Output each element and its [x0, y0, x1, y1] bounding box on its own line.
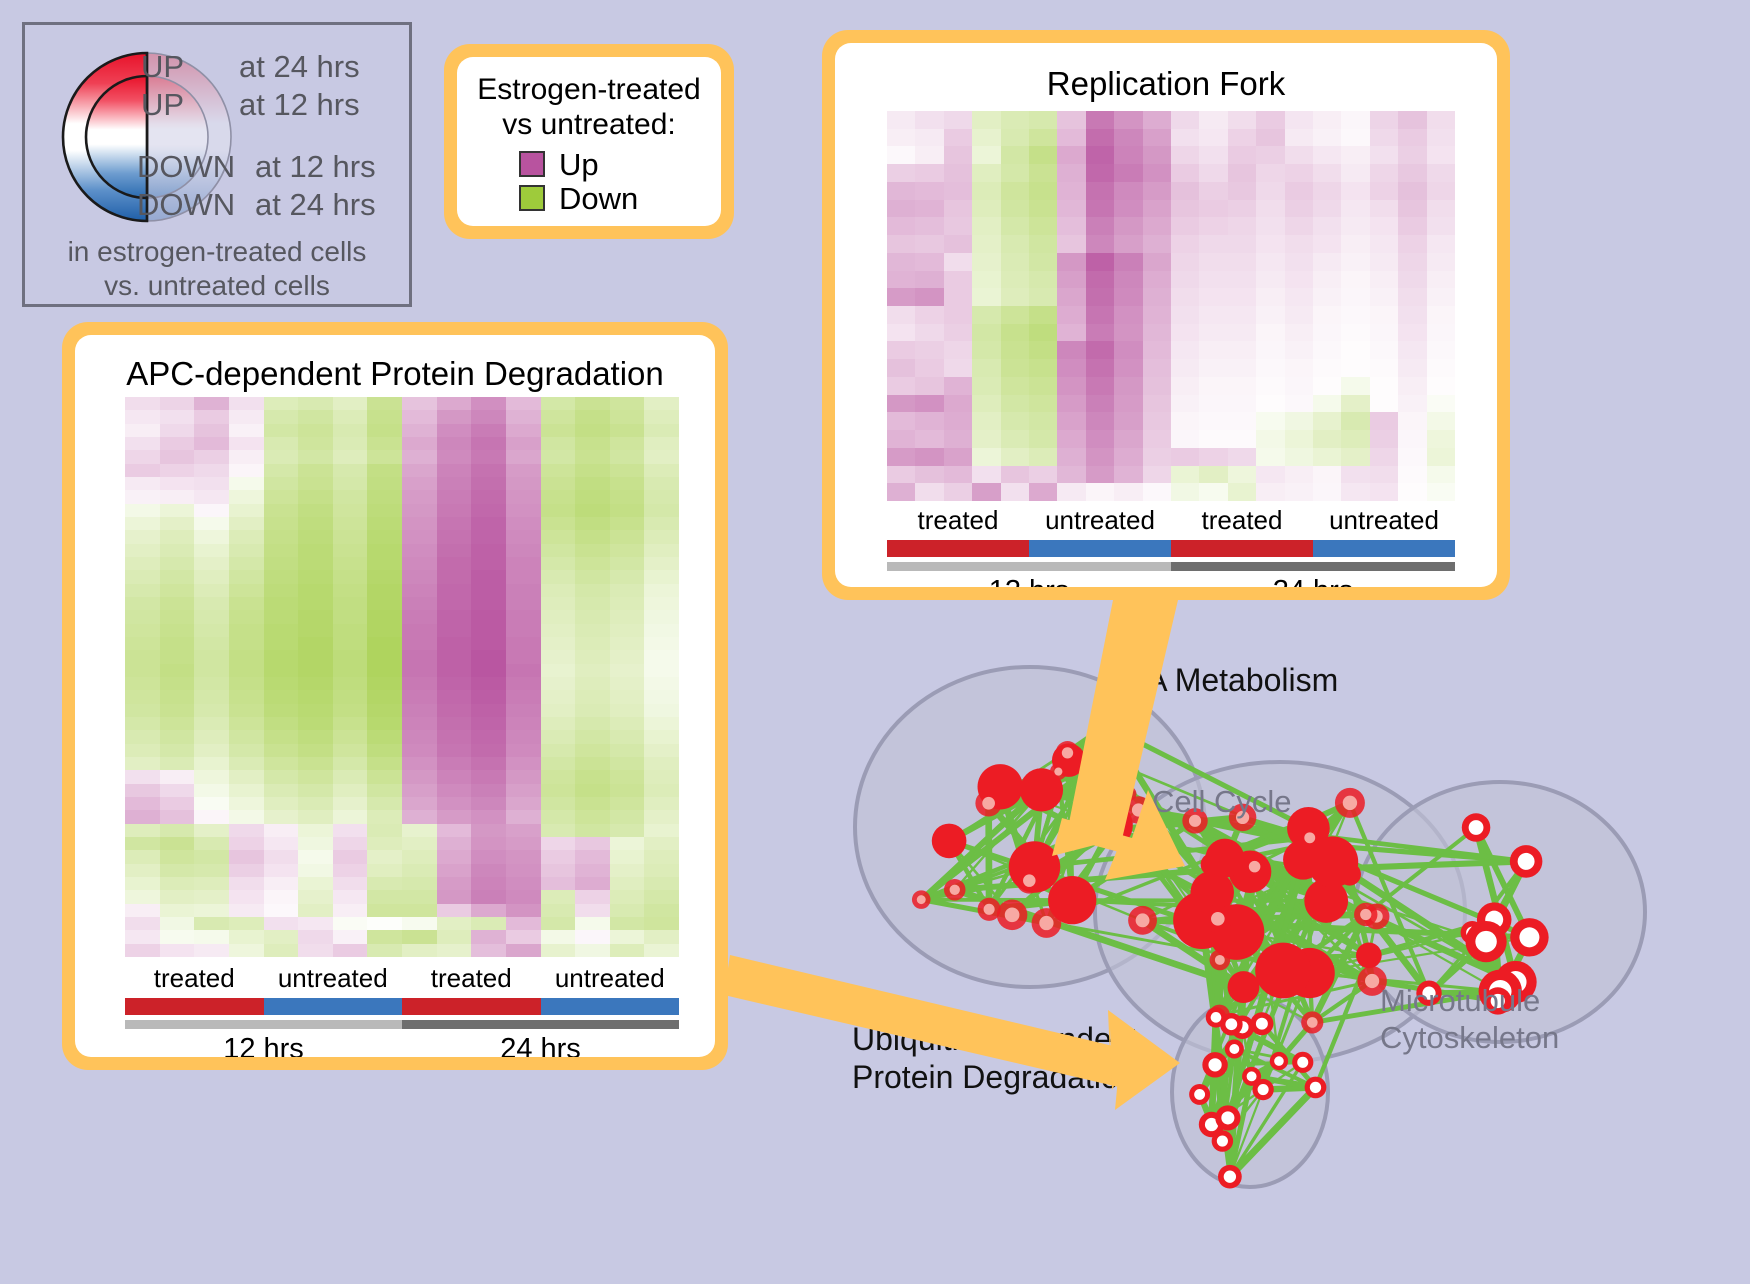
- heatmap-cell: [541, 677, 576, 690]
- network-node[interactable]: [944, 879, 966, 901]
- heatmap-cell: [1256, 412, 1284, 430]
- heatmap-cell: [1086, 306, 1114, 324]
- heatmap-cell: [471, 930, 506, 943]
- heatmap-cell: [1001, 448, 1029, 466]
- heatmap-cell: [160, 570, 195, 583]
- heatmap-cell: [229, 784, 264, 797]
- heatmap-cell: [1143, 200, 1171, 218]
- heatmap-cell: [125, 877, 160, 890]
- legend-title-line2: vs untreated:: [475, 108, 703, 143]
- heatmap-cell: [1029, 111, 1057, 129]
- heatmap-cell: [125, 490, 160, 503]
- heatmap-cell: [229, 717, 264, 730]
- network-node[interactable]: [912, 890, 931, 909]
- heatmap-cell: [437, 570, 472, 583]
- legend-swatch-up-icon: [519, 151, 545, 177]
- heatmap-cell: [541, 544, 576, 557]
- heatmap-cell: [1398, 448, 1426, 466]
- heatmap-cell: [1143, 129, 1171, 147]
- heatmap-cell: [160, 850, 195, 863]
- network-node[interactable]: [1298, 826, 1321, 849]
- heatmap-cell: [1313, 253, 1341, 271]
- heatmap-cell: [402, 490, 437, 503]
- heatmap-cell: [575, 464, 610, 477]
- network-svg: [800, 612, 1750, 1279]
- heatmap-cell: [160, 557, 195, 570]
- heatmap-cell: [367, 797, 402, 810]
- heatmap-cell: [1427, 182, 1455, 200]
- heatmap-cell: [471, 584, 506, 597]
- heatmap-cell: [1285, 483, 1313, 501]
- heatmap-cell: [610, 530, 645, 543]
- heatmap-cell: [1313, 182, 1341, 200]
- heatmap-cell: [437, 944, 472, 957]
- heatmap-cell: [972, 253, 1000, 271]
- heatmap-cell: [1341, 129, 1369, 147]
- heatmap-cell: [1057, 146, 1085, 164]
- heatmap-cell: [972, 129, 1000, 147]
- apc-title: APC-dependent Protein Degradation: [75, 355, 715, 393]
- heatmap-cell: [575, 584, 610, 597]
- heatmap-cell: [437, 730, 472, 743]
- heatmap-cell: [264, 677, 299, 690]
- heatmap-cell: [1370, 324, 1398, 342]
- heatmap-cell: [437, 450, 472, 463]
- heatmap-cell: [333, 464, 368, 477]
- heatmap-cell: [471, 437, 506, 450]
- heatmap-cell: [610, 757, 645, 770]
- heatmap-cell: [264, 877, 299, 890]
- heatmap-cell: [575, 797, 610, 810]
- heatmap-cell: [229, 877, 264, 890]
- heatmap-cell: [541, 450, 576, 463]
- replication-fork-heatmap: [887, 111, 1455, 501]
- heatmap-cell: [1341, 448, 1369, 466]
- heatmap-cell: [944, 129, 972, 147]
- network-node[interactable]: [1270, 1052, 1288, 1070]
- network-node[interactable]: [1356, 943, 1382, 969]
- heatmap-cell: [506, 410, 541, 423]
- heatmap-cell: [160, 464, 195, 477]
- heatmap-cell: [471, 877, 506, 890]
- heatmap-cell: [1086, 271, 1114, 289]
- network-node[interactable]: [1215, 1105, 1240, 1130]
- heatmap-cell: [367, 530, 402, 543]
- heatmap-cell: [644, 917, 679, 930]
- heatmap-cell: [575, 824, 610, 837]
- legend-panel: Estrogen-treated vs untreated: Up Down: [444, 44, 734, 239]
- heatmap-cell: [944, 271, 972, 289]
- heatmap-cell: [1427, 306, 1455, 324]
- heatmap-cell: [1398, 483, 1426, 501]
- cluster-label-microtubule-cytoskeleton: Microtubule Cytoskeleton: [1380, 982, 1559, 1056]
- heatmap-cell: [1057, 483, 1085, 501]
- heatmap-cell: [541, 877, 576, 890]
- heatmap-cell: [915, 324, 943, 342]
- heatmap-cell: [160, 877, 195, 890]
- heatmap-cell: [506, 837, 541, 850]
- heatmap-cell: [437, 477, 472, 490]
- heatmap-cell: [1398, 466, 1426, 484]
- heatmap-cell: [333, 490, 368, 503]
- cluster-label-microtubule-line1: Microtubule: [1380, 982, 1559, 1019]
- heatmap-cell: [575, 890, 610, 903]
- heatmap-cell: [541, 397, 576, 410]
- heatmap-cell: [1001, 430, 1029, 448]
- network-node[interactable]: [1228, 971, 1260, 1003]
- heatmap-cell: [1285, 412, 1313, 430]
- key-direction-up24: UP: [141, 49, 184, 84]
- heatmap-cell: [1114, 164, 1142, 182]
- heatmap-cell: [972, 200, 1000, 218]
- heatmap-cell: [402, 850, 437, 863]
- network-node[interactable]: [1137, 832, 1157, 852]
- heatmap-cell: [471, 704, 506, 717]
- heatmap-cell: [229, 464, 264, 477]
- heatmap-cell: [610, 544, 645, 557]
- heatmap-cell: [644, 397, 679, 410]
- network-node[interactable]: [1301, 1011, 1323, 1033]
- heatmap-cell: [1114, 253, 1142, 271]
- heatmap-cell: [541, 530, 576, 543]
- heatmap-cell: [887, 341, 915, 359]
- heatmap-cell: [298, 717, 333, 730]
- heatmap-cell: [1171, 483, 1199, 501]
- heatmap-cell: [1398, 341, 1426, 359]
- heatmap-cell: [1427, 111, 1455, 129]
- heatmap-cell: [229, 890, 264, 903]
- heatmap-cell: [264, 584, 299, 597]
- heatmap-cell: [229, 810, 264, 823]
- network-node[interactable]: [997, 900, 1028, 931]
- heatmap-cell: [575, 424, 610, 437]
- heatmap-cell: [1427, 377, 1455, 395]
- heatmap-cell: [915, 377, 943, 395]
- network-node[interactable]: [1032, 908, 1062, 938]
- heatmap-cell: [1114, 235, 1142, 253]
- heatmap-cell: [541, 664, 576, 677]
- heatmap-cell: [1001, 129, 1029, 147]
- heatmap-cell: [944, 146, 972, 164]
- heatmap-cell: [367, 917, 402, 930]
- heatmap-cell: [887, 377, 915, 395]
- heatmap-cell: [333, 757, 368, 770]
- heatmap-cell: [610, 744, 645, 757]
- heatmap-cell: [367, 397, 402, 410]
- heatmap-cell: [437, 904, 472, 917]
- heatmap-cell: [1256, 359, 1284, 377]
- heatmap-cell: [229, 677, 264, 690]
- heatmap-cell: [194, 597, 229, 610]
- network-node[interactable]: [1128, 906, 1157, 935]
- network-node[interactable]: [1510, 845, 1543, 878]
- heatmap-cell: [437, 557, 472, 570]
- network-node[interactable]: [975, 790, 1001, 816]
- heatmap-cell: [264, 944, 299, 957]
- heatmap-cell: [1057, 341, 1085, 359]
- heatmap-cell: [1029, 306, 1057, 324]
- time-label: 12 hrs: [887, 575, 1171, 587]
- treatment-color-bar: [1029, 540, 1171, 557]
- heatmap-cell: [575, 704, 610, 717]
- heatmap-cell: [264, 397, 299, 410]
- apc-axis: treateduntreatedtreateduntreated 12 hrs2…: [125, 963, 679, 1057]
- heatmap-cell: [367, 637, 402, 650]
- network-node[interactable]: [1218, 1165, 1242, 1189]
- heatmap-cell: [1029, 288, 1057, 306]
- cluster-label-cell-cycle: Cell Cycle: [1152, 784, 1292, 820]
- network-node[interactable]: [1510, 918, 1548, 956]
- heatmap-cell: [541, 557, 576, 570]
- heatmap-cell: [944, 200, 972, 218]
- heatmap-cell: [1370, 341, 1398, 359]
- heatmap-cell: [506, 944, 541, 957]
- heatmap-cell: [125, 864, 160, 877]
- heatmap-cell: [402, 890, 437, 903]
- heatmap-cell: [125, 624, 160, 637]
- heatmap-cell: [644, 664, 679, 677]
- heatmap-cell: [610, 517, 645, 530]
- heatmap-cell: [402, 744, 437, 757]
- heatmap-cell: [125, 504, 160, 517]
- network-node[interactable]: [1225, 1039, 1244, 1058]
- heatmap-cell: [887, 146, 915, 164]
- heatmap-cell: [915, 430, 943, 448]
- heatmap-cell: [1001, 324, 1029, 342]
- network-node[interactable]: [1292, 1052, 1313, 1073]
- cluster-label-ubiquitin-line1: Ubiquitin-dependent: [852, 1020, 1138, 1058]
- heatmap-cell: [1256, 377, 1284, 395]
- heatmap-cell: [1057, 306, 1085, 324]
- heatmap-cell: [229, 610, 264, 623]
- network-node[interactable]: [1099, 718, 1115, 734]
- heatmap-cell: [972, 377, 1000, 395]
- heatmap-cell: [160, 797, 195, 810]
- heatmap-cell: [1256, 253, 1284, 271]
- heatmap-cell: [1285, 235, 1313, 253]
- heatmap-cell: [610, 690, 645, 703]
- network-node[interactable]: [1243, 855, 1267, 879]
- heatmap-cell: [506, 930, 541, 943]
- heatmap-cell: [915, 235, 943, 253]
- network-node[interactable]: [1252, 1079, 1273, 1100]
- network-node[interactable]: [1305, 1077, 1327, 1099]
- network-node[interactable]: [932, 824, 967, 859]
- heatmap-cell: [1029, 395, 1057, 413]
- heatmap-cell: [1427, 448, 1455, 466]
- heatmap-cell: [333, 477, 368, 490]
- network-node[interactable]: [1206, 1007, 1226, 1027]
- network-node[interactable]: [1255, 943, 1311, 999]
- heatmap-cell: [333, 504, 368, 517]
- heatmap-cell: [1341, 200, 1369, 218]
- network-node[interactable]: [1056, 741, 1080, 765]
- heatmap-cell: [333, 397, 368, 410]
- heatmap-cell: [944, 395, 972, 413]
- legend-swatch-down-icon: [519, 185, 545, 211]
- heatmap-cell: [1143, 182, 1171, 200]
- heatmap-cell: [644, 464, 679, 477]
- network-node[interactable]: [1335, 788, 1365, 818]
- column-group-label: untreated: [1313, 505, 1455, 536]
- heatmap-cell: [194, 837, 229, 850]
- network-node[interactable]: [1465, 921, 1506, 962]
- heatmap-cell: [160, 544, 195, 557]
- heatmap-cell: [1199, 395, 1227, 413]
- column-group-label: treated: [125, 963, 264, 994]
- heatmap-cell: [1001, 377, 1029, 395]
- heatmap-cell: [298, 557, 333, 570]
- heatmap-cell: [1199, 200, 1227, 218]
- heatmap-cell: [1427, 200, 1455, 218]
- heatmap-cell: [887, 200, 915, 218]
- heatmap-cell: [1398, 235, 1426, 253]
- heatmap-cell: [298, 464, 333, 477]
- heatmap-cell: [506, 557, 541, 570]
- heatmap-cell: [125, 650, 160, 663]
- heatmap-cell: [1427, 164, 1455, 182]
- heatmap-cell: [229, 864, 264, 877]
- network-node[interactable]: [1250, 1012, 1273, 1035]
- heatmap-cell: [1285, 288, 1313, 306]
- heatmap-cell: [1143, 483, 1171, 501]
- heatmap-cell: [160, 770, 195, 783]
- network-node[interactable]: [1354, 903, 1377, 926]
- heatmap-cell: [264, 437, 299, 450]
- network-node[interactable]: [1091, 747, 1113, 769]
- heatmap-cell: [541, 490, 576, 503]
- heatmap-cell: [644, 797, 679, 810]
- network-node[interactable]: [1202, 1052, 1227, 1077]
- heatmap-cell: [1029, 271, 1057, 289]
- network-node[interactable]: [1050, 763, 1067, 780]
- network-node[interactable]: [1205, 839, 1244, 878]
- heatmap-cell: [610, 570, 645, 583]
- heatmap-cell: [1199, 483, 1227, 501]
- heatmap-cell: [1143, 430, 1171, 448]
- heatmap-cell: [437, 637, 472, 650]
- heatmap-cell: [1029, 377, 1057, 395]
- heatmap-cell: [437, 664, 472, 677]
- heatmap-cell: [125, 437, 160, 450]
- heatmap-cell: [125, 890, 160, 903]
- heatmap-cell: [298, 570, 333, 583]
- heatmap-cell: [298, 437, 333, 450]
- heatmap-cell: [1341, 359, 1369, 377]
- heatmap-cell: [644, 477, 679, 490]
- heatmap-cell: [367, 477, 402, 490]
- heatmap-cell: [1313, 164, 1341, 182]
- heatmap-cell: [944, 324, 972, 342]
- heatmap-cell: [915, 164, 943, 182]
- heatmap-cell: [471, 850, 506, 863]
- heatmap-cell: [125, 557, 160, 570]
- heatmap-cell: [1086, 324, 1114, 342]
- heatmap-cell: [229, 597, 264, 610]
- heatmap-cell: [1341, 466, 1369, 484]
- network-node[interactable]: [1122, 787, 1136, 801]
- heatmap-cell: [1001, 182, 1029, 200]
- heatmap-cell: [887, 129, 915, 147]
- heatmap-cell: [333, 570, 368, 583]
- heatmap-cell: [1001, 466, 1029, 484]
- heatmap-cell: [125, 904, 160, 917]
- heatmap-cell: [367, 597, 402, 610]
- heatmap-cell: [264, 650, 299, 663]
- heatmap-cell: [402, 544, 437, 557]
- heatmap-cell: [575, 477, 610, 490]
- heatmap-cell: [298, 757, 333, 770]
- heatmap-cell: [1143, 217, 1171, 235]
- network-node[interactable]: [1462, 813, 1491, 842]
- heatmap-cell: [367, 770, 402, 783]
- network-node[interactable]: [1189, 1084, 1210, 1105]
- heatmap-cell: [1114, 200, 1142, 218]
- heatmap-cell: [1341, 217, 1369, 235]
- color-key-footer-line1: in estrogen-treated cells: [25, 235, 409, 269]
- heatmap-cell: [541, 784, 576, 797]
- heatmap-cell: [437, 784, 472, 797]
- heatmap-cell: [471, 610, 506, 623]
- heatmap-cell: [1228, 111, 1256, 129]
- heatmap-cell: [367, 677, 402, 690]
- heatmap-cell: [644, 570, 679, 583]
- heatmap-cell: [1086, 430, 1114, 448]
- heatmap-cell: [644, 904, 679, 917]
- heatmap-cell: [1313, 235, 1341, 253]
- heatmap-cell: [194, 664, 229, 677]
- network-node[interactable]: [978, 898, 1001, 921]
- heatmap-cell: [437, 930, 472, 943]
- heatmap-cell: [541, 650, 576, 663]
- heatmap-cell: [1341, 341, 1369, 359]
- heatmap-cell: [1086, 395, 1114, 413]
- heatmap-cell: [264, 730, 299, 743]
- heatmap-cell: [1199, 430, 1227, 448]
- heatmap-cell: [644, 930, 679, 943]
- heatmap-cell: [160, 437, 195, 450]
- network-node[interactable]: [1107, 820, 1126, 839]
- network-node[interactable]: [1016, 868, 1042, 894]
- column-group-label: untreated: [264, 963, 403, 994]
- heatmap-cell: [471, 544, 506, 557]
- heatmap-cell: [1001, 146, 1029, 164]
- heatmap-cell: [333, 450, 368, 463]
- heatmap-cell: [1341, 271, 1369, 289]
- heatmap-cell: [541, 704, 576, 717]
- network-node[interactable]: [1210, 950, 1231, 971]
- heatmap-cell: [298, 637, 333, 650]
- heatmap-cell: [1114, 466, 1142, 484]
- heatmap-cell: [1285, 395, 1313, 413]
- heatmap-cell: [1114, 146, 1142, 164]
- heatmap-cell: [264, 664, 299, 677]
- network-node[interactable]: [1204, 905, 1232, 933]
- heatmap-cell: [1427, 430, 1455, 448]
- heatmap-cell: [1199, 359, 1227, 377]
- heatmap-cell: [194, 744, 229, 757]
- heatmap-cell: [1370, 253, 1398, 271]
- time-color-bar: [402, 1020, 679, 1029]
- heatmap-cell: [125, 930, 160, 943]
- heatmap-cell: [610, 917, 645, 930]
- heatmap-cell: [437, 597, 472, 610]
- heatmap-cell: [972, 306, 1000, 324]
- heatmap-cell: [610, 890, 645, 903]
- heatmap-cell: [125, 744, 160, 757]
- heatmap-cell: [506, 477, 541, 490]
- heatmap-cell: [1341, 395, 1369, 413]
